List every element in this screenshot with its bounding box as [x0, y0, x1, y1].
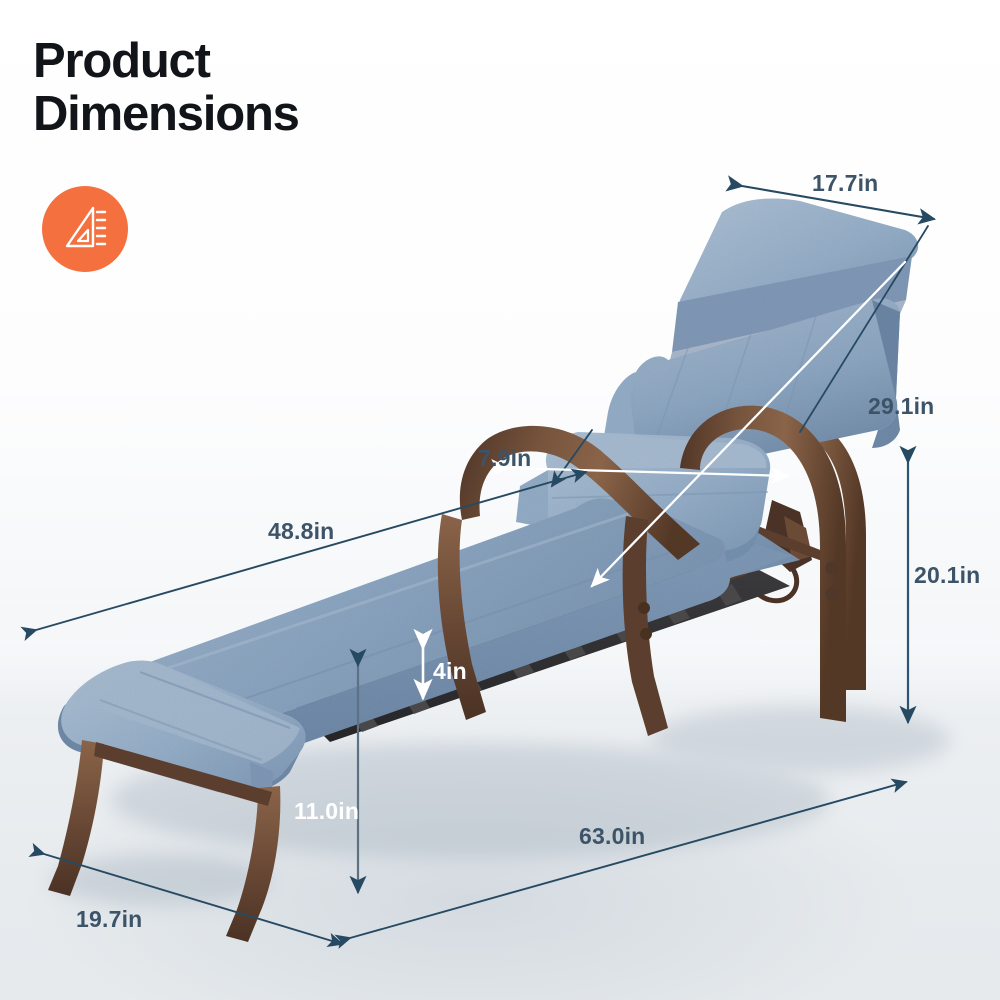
product-illustration — [0, 0, 1000, 1000]
dimension-label-29-1in: 29.1in — [868, 393, 934, 420]
dimension-label-20-1in: 20.1in — [914, 562, 980, 589]
product-dimensions-diagram: Product Dimensions — [0, 0, 1000, 1000]
dimension-label-4in: 4in — [433, 658, 467, 685]
dimension-label-11-0in: 11.0in — [294, 798, 359, 825]
dimension-label-7-9in: 7.9in — [478, 445, 531, 472]
dimension-label-48-8in: 48.8in — [268, 518, 334, 545]
dimension-label-63-0in: 63.0in — [579, 823, 645, 850]
dimension-label-17-7in: 17.7in — [812, 170, 878, 197]
dimension-label-19-7in: 19.7in — [76, 906, 142, 933]
